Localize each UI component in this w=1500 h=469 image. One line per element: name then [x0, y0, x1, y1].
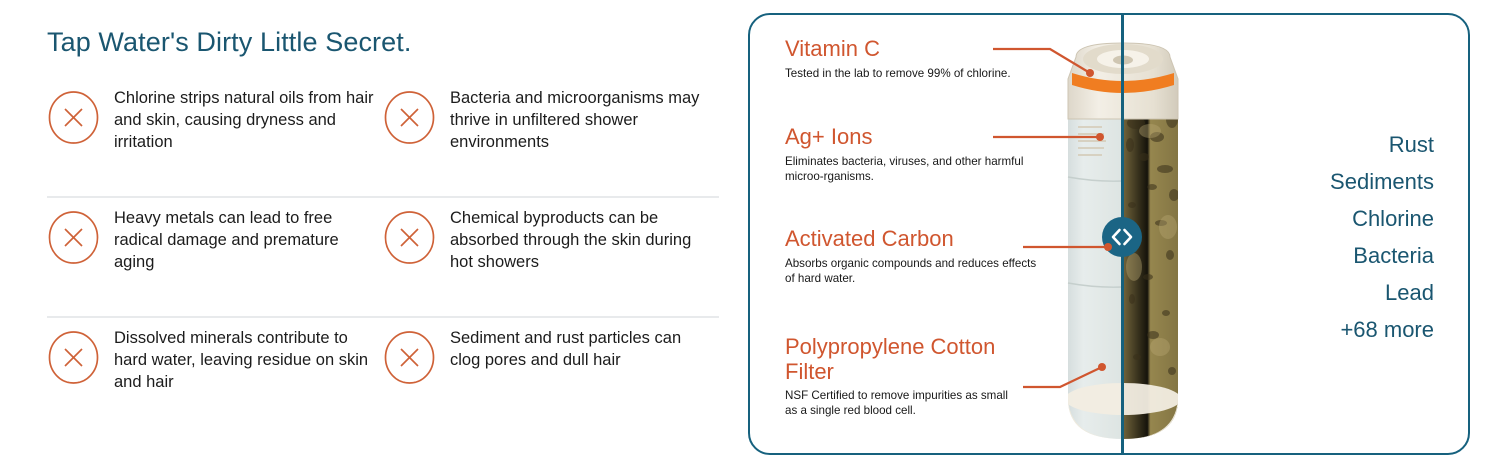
annotation-vitamin-c: Vitamin C Tested in the lab to remove 99…: [785, 37, 1015, 81]
issue-text: Bacteria and microorganisms may thrive i…: [450, 88, 712, 153]
contaminant-item: Rust: [1330, 127, 1434, 164]
issues-row: Dissolved minerals contribute to hard wa…: [47, 318, 719, 436]
issues-grid: Chlorine strips natural oils from hair a…: [47, 78, 719, 436]
filter-comparison-panel: Vitamin C Tested in the lab to remove 99…: [748, 13, 1470, 455]
issue-item: Sediment and rust particles can clog por…: [383, 328, 719, 384]
contaminant-item: Sediments: [1330, 164, 1434, 201]
x-circle-icon: [383, 211, 436, 264]
infographic-page: Tap Water's Dirty Little Secret. Chlorin…: [0, 0, 1500, 469]
contaminant-item: Chlorine: [1330, 201, 1434, 238]
issue-item: Chlorine strips natural oils from hair a…: [47, 88, 383, 153]
x-circle-icon: [47, 331, 100, 384]
page-title: Tap Water's Dirty Little Secret.: [47, 27, 411, 58]
contaminant-item: Lead: [1330, 275, 1434, 312]
annotation-description: Absorbs organic compounds and reduces ef…: [785, 256, 1047, 286]
issue-text: Heavy metals can lead to free radical da…: [114, 208, 376, 273]
x-circle-icon: [383, 331, 436, 384]
contaminant-item: Bacteria: [1330, 238, 1434, 275]
annotation-title: Polypropylene Cotton Filter: [785, 335, 1020, 384]
tap-water-issues-section: Tap Water's Dirty Little Secret. Chlorin…: [0, 0, 735, 469]
issues-row: Chlorine strips natural oils from hair a…: [47, 78, 719, 196]
x-circle-icon: [47, 91, 100, 144]
contaminants-list: Rust Sediments Chlorine Bacteria Lead +6…: [1330, 127, 1434, 349]
left-right-chevron-icon: [1110, 228, 1134, 246]
x-circle-icon: [47, 211, 100, 264]
issue-item: Dissolved minerals contribute to hard wa…: [47, 328, 383, 393]
comparison-slider-handle[interactable]: [1102, 217, 1142, 257]
annotation-description: NSF Certified to remove impurities as sm…: [785, 388, 1020, 418]
issue-text: Dissolved minerals contribute to hard wa…: [114, 328, 376, 393]
annotation-title: Ag+ Ions: [785, 125, 1030, 150]
issue-text: Chlorine strips natural oils from hair a…: [114, 88, 376, 153]
issues-row: Heavy metals can lead to free radical da…: [47, 198, 719, 316]
annotation-polypropylene-cotton-filter: Polypropylene Cotton Filter NSF Certifie…: [785, 335, 1020, 418]
issue-text: Sediment and rust particles can clog por…: [450, 328, 712, 372]
x-circle-icon: [383, 91, 436, 144]
issue-item: Bacteria and microorganisms may thrive i…: [383, 88, 719, 153]
issue-text: Chemical byproducts can be absorbed thro…: [450, 208, 712, 273]
annotation-title: Vitamin C: [785, 37, 1015, 62]
annotation-ag-ions: Ag+ Ions Eliminates bacteria, viruses, a…: [785, 125, 1030, 184]
issue-item: Heavy metals can lead to free radical da…: [47, 208, 383, 273]
contaminant-item: +68 more: [1330, 312, 1434, 349]
annotation-description: Tested in the lab to remove 99% of chlor…: [785, 66, 1015, 81]
issue-item: Chemical byproducts can be absorbed thro…: [383, 208, 719, 273]
annotation-description: Eliminates bacteria, viruses, and other …: [785, 154, 1030, 184]
annotation-activated-carbon: Activated Carbon Absorbs organic compoun…: [785, 227, 1047, 286]
annotation-title: Activated Carbon: [785, 227, 1047, 252]
